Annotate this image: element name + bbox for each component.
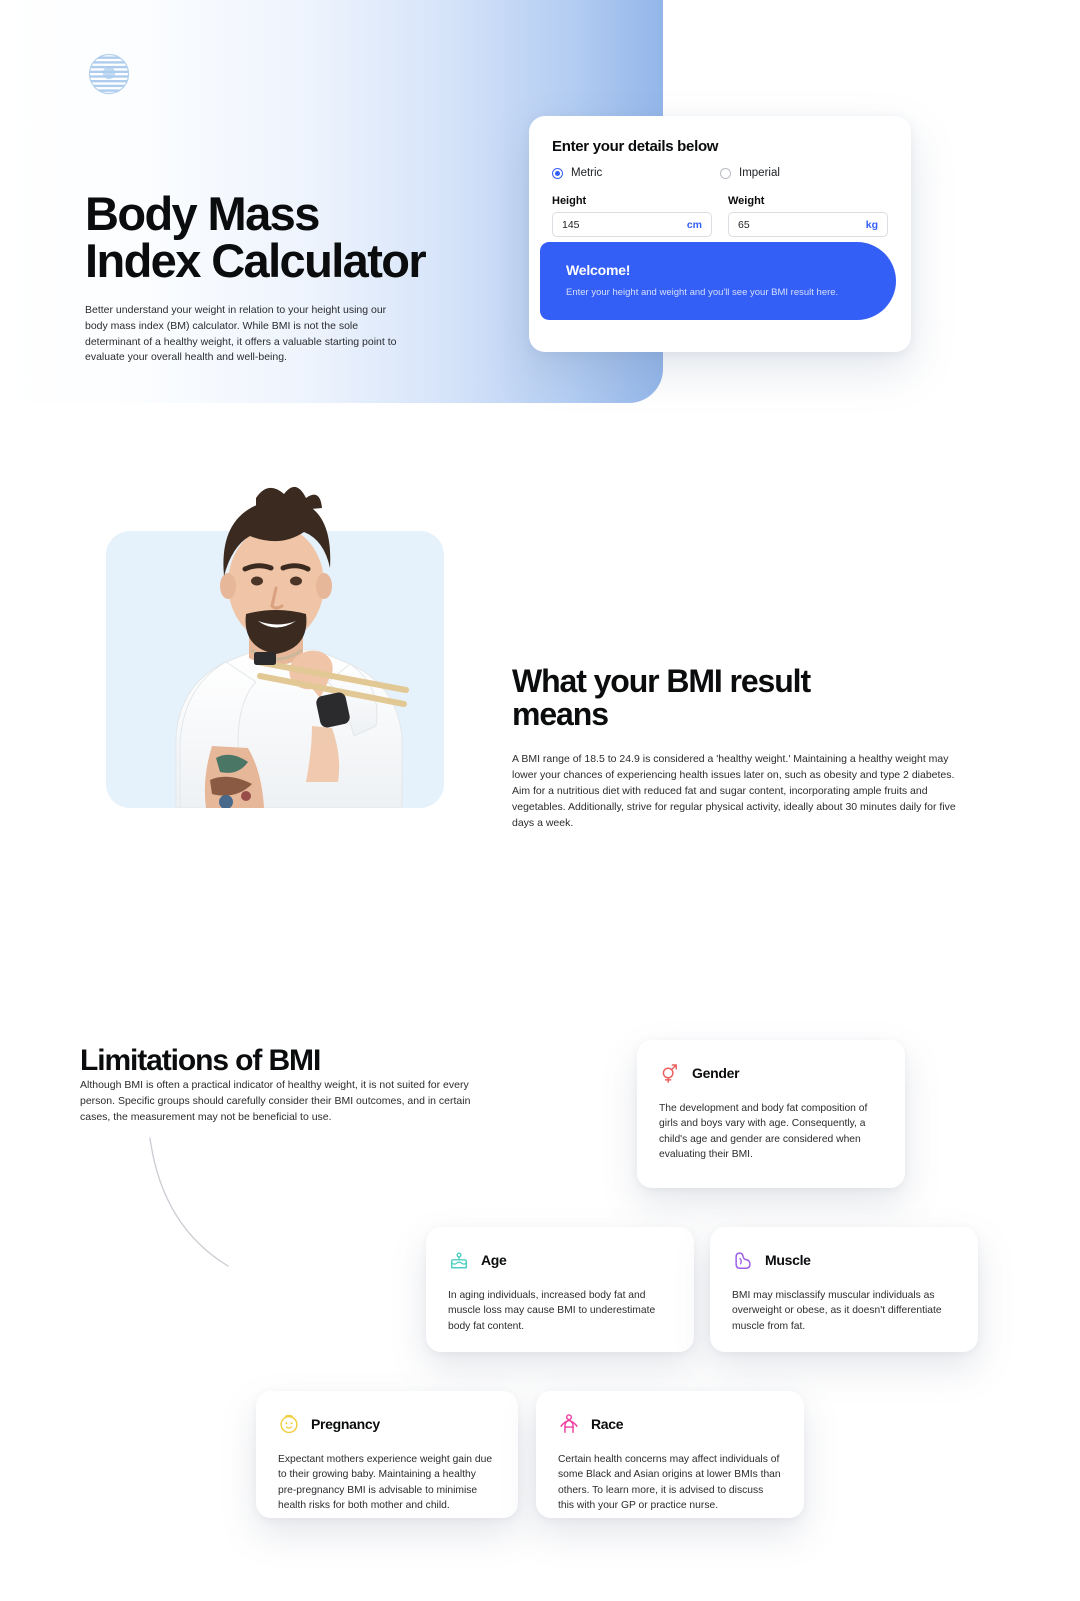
baby-face-icon <box>278 1413 300 1435</box>
limitation-card-muscle: Muscle BMI may misclassify muscular indi… <box>710 1227 978 1352</box>
limitation-card-pregnancy: Pregnancy Expectant mothers experience w… <box>256 1391 518 1518</box>
result-subtitle: Enter your height and weight and you'll … <box>566 286 874 300</box>
radio-selected-icon[interactable] <box>552 168 563 179</box>
weight-label: Weight <box>728 195 888 207</box>
birthday-cake-icon <box>448 1249 470 1271</box>
limitations-title: Limitations of BMI <box>80 1044 320 1078</box>
card-title: Age <box>481 1252 507 1268</box>
weight-value: 65 <box>738 219 750 231</box>
card-header: Pregnancy <box>278 1413 496 1435</box>
card-header: Race <box>558 1413 782 1435</box>
card-body: Certain health concerns may affect indiv… <box>558 1452 782 1514</box>
hero-title-line-2: Index Calculator <box>85 237 505 284</box>
unit-option-imperial-label: Imperial <box>739 167 780 179</box>
limitation-card-race: Race Certain health concerns may affect … <box>536 1391 804 1518</box>
card-header: Muscle <box>732 1249 956 1271</box>
card-title: Pregnancy <box>311 1416 380 1432</box>
page-title: Body Mass Index Calculator <box>85 190 505 284</box>
gender-symbol-icon <box>659 1062 681 1084</box>
card-body: Expectant mothers experience weight gain… <box>278 1452 496 1514</box>
height-field-group: Height 145 cm <box>552 195 712 237</box>
limitations-description: Although BMI is often a practical indica… <box>80 1078 490 1125</box>
striped-circle-logo-icon[interactable] <box>88 53 130 95</box>
unit-option-imperial[interactable]: Imperial <box>720 167 888 179</box>
height-label: Height <box>552 195 712 207</box>
card-title: Race <box>591 1416 623 1432</box>
means-title-line-1: What your BMI result <box>512 663 810 699</box>
hero-description: Better understand your weight in relatio… <box>85 303 405 366</box>
weight-input[interactable]: 65 kg <box>728 212 888 237</box>
means-title: What your BMI result means <box>512 665 942 730</box>
bmi-calculator-page: Body Mass Index Calculator Better unders… <box>0 0 1080 1601</box>
means-title-line-2: means <box>512 696 608 732</box>
radio-unselected-icon[interactable] <box>720 168 731 179</box>
hero-title-line-1: Body Mass <box>85 187 319 240</box>
limitation-card-gender: Gender The development and body fat comp… <box>637 1040 905 1188</box>
result-title: Welcome! <box>566 262 874 278</box>
weight-field-group: Weight 65 kg <box>728 195 888 237</box>
height-input[interactable]: 145 cm <box>552 212 712 237</box>
limitation-card-age: Age In aging individuals, increased body… <box>426 1227 694 1352</box>
card-title: Muscle <box>765 1252 811 1268</box>
weight-unit: kg <box>866 219 878 231</box>
form-heading: Enter your details below <box>552 138 888 155</box>
card-title: Gender <box>692 1065 739 1081</box>
height-value: 145 <box>562 219 580 231</box>
card-body: BMI may misclassify muscular individuals… <box>732 1288 956 1334</box>
card-header: Age <box>448 1249 672 1271</box>
decorative-curve-line <box>120 1130 300 1280</box>
card-body: The development and body fat composition… <box>659 1101 883 1163</box>
card-header: Gender <box>659 1062 883 1084</box>
unit-radio-group: Metric Imperial <box>552 167 888 179</box>
measurement-fields: Height 145 cm Weight 65 kg <box>552 195 888 237</box>
card-body: In aging individuals, increased body fat… <box>448 1288 672 1334</box>
bmi-result-panel: Welcome! Enter your height and weight an… <box>540 242 896 320</box>
means-description: A BMI range of 18.5 to 24.9 is considere… <box>512 752 974 832</box>
height-unit: cm <box>687 219 702 231</box>
flexed-bicep-icon <box>732 1249 754 1271</box>
unit-option-metric[interactable]: Metric <box>552 167 720 179</box>
person-figure-icon <box>558 1413 580 1435</box>
unit-option-metric-label: Metric <box>571 167 602 179</box>
man-with-chopsticks-photo <box>106 436 444 808</box>
